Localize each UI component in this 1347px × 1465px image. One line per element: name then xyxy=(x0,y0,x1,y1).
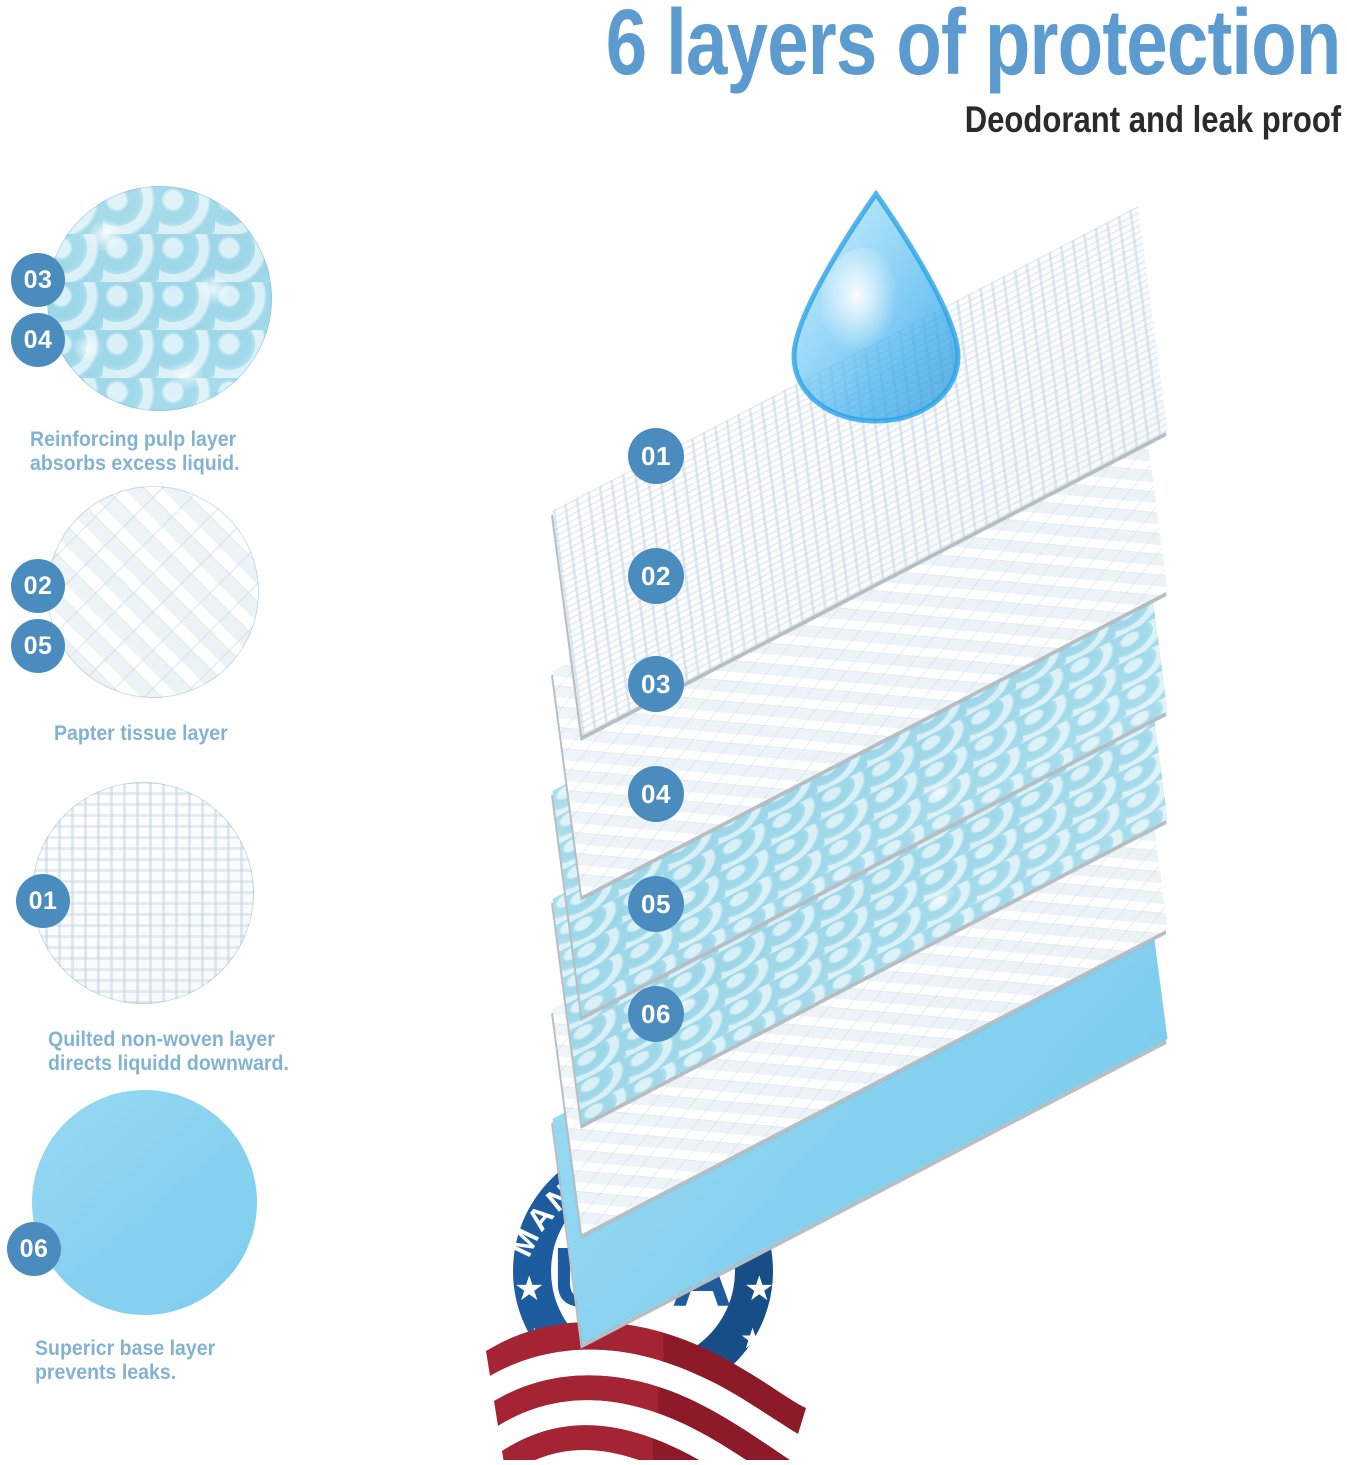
feature-caption: Papter tissue layer xyxy=(54,722,228,746)
feature-caption: Reinforcing pulp layer absorbs excess li… xyxy=(30,428,239,475)
feature-badge: 04 xyxy=(11,313,65,367)
page-subtitle: Deodorant and leak proof xyxy=(965,101,1341,138)
feature-list: 03 04 Reinforcing pulp layer absorbs exc… xyxy=(0,186,340,1416)
feature-item-tissue: 02 05 Papter tissue layer xyxy=(0,486,340,746)
layer-badge-03: 03 xyxy=(628,656,684,712)
layer-stack-diagram: 01 02 03 04 05 06 xyxy=(430,150,1347,1150)
feature-badge: 06 xyxy=(7,1222,61,1276)
feature-item-base: 06 Supericr base layer prevents leaks. xyxy=(0,1090,340,1370)
svg-text:★: ★ xyxy=(514,1270,544,1308)
header: 6 layers of protection Deodorant and lea… xyxy=(0,0,1347,160)
feature-caption: Supericr base layer prevents leaks. xyxy=(35,1337,215,1384)
feature-badge: 05 xyxy=(11,619,65,673)
feature-badge: 02 xyxy=(11,559,65,613)
feature-texture-swatch xyxy=(47,186,272,411)
layer-badge-06: 06 xyxy=(628,986,684,1042)
feature-badge: 01 xyxy=(16,874,70,928)
svg-text:★: ★ xyxy=(744,1270,774,1308)
feature-texture-swatch xyxy=(32,1090,257,1315)
layer-badge-04: 04 xyxy=(628,766,684,822)
layer-badge-02: 02 xyxy=(628,548,684,604)
layer-badge-01: 01 xyxy=(628,428,684,484)
feature-item-pulp: 03 04 Reinforcing pulp layer absorbs exc… xyxy=(0,186,340,446)
svg-text:★: ★ xyxy=(740,1323,765,1354)
feature-texture-swatch xyxy=(47,486,259,698)
page-title: 6 layers of protection xyxy=(606,0,1341,89)
infographic-canvas: 6 layers of protection Deodorant and lea… xyxy=(0,0,1347,1465)
layer-badge-05: 05 xyxy=(628,876,684,932)
feature-badge: 03 xyxy=(11,253,65,307)
feature-caption: Quilted non-woven layer directs liquidd … xyxy=(48,1028,289,1075)
feature-item-nonwoven: 01 Quilted non-woven layer directs liqui… xyxy=(0,782,340,1062)
